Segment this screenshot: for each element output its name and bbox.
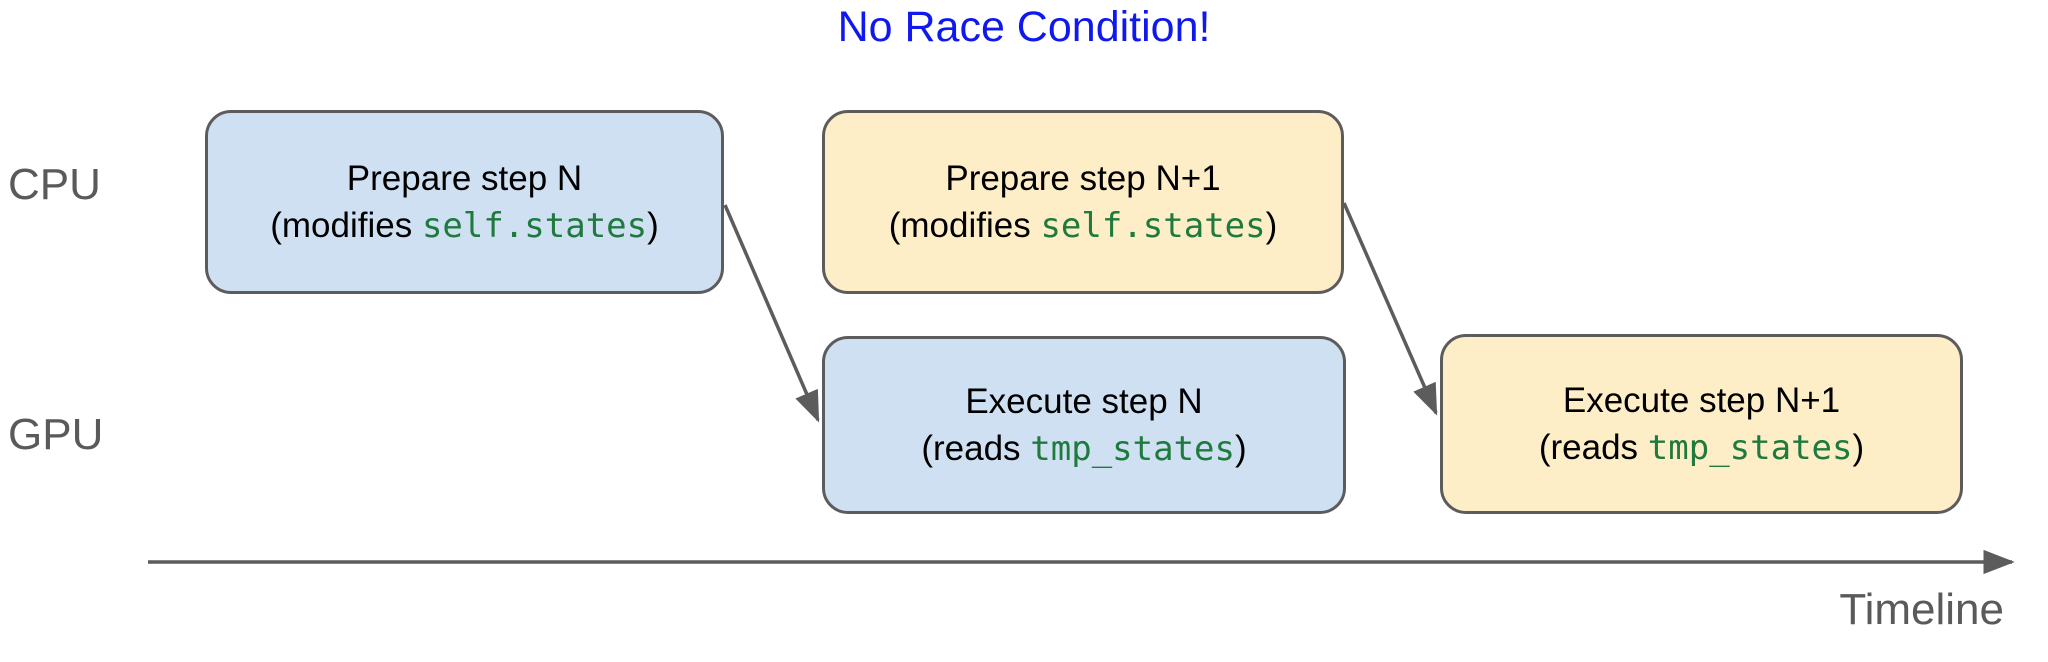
connector-layer (0, 0, 2048, 662)
node-execute-step-n-plus-1[interactable]: Execute step N+1 (reads tmp_states) (1440, 334, 1963, 514)
diagram-canvas: No Race Condition! CPU GPU Prepare step … (0, 0, 2048, 662)
node-execute-step-n-plus-1-line2: (reads tmp_states) (1539, 424, 1864, 472)
lane-label-cpu: CPU (8, 160, 101, 210)
node-prepare-step-n-code: self.states (422, 206, 647, 246)
node-execute-step-n-code: tmp_states (1030, 429, 1235, 469)
connector-prepare-n-to-execute-n (725, 205, 818, 420)
node-prepare-step-n-line2-suffix: ) (647, 206, 659, 245)
node-execute-step-n-line2-suffix: ) (1235, 429, 1247, 468)
page-title: No Race Condition! (0, 2, 2048, 52)
node-execute-step-n-plus-1-line2-prefix: (reads (1539, 428, 1648, 467)
lane-label-gpu: GPU (8, 410, 103, 460)
node-execute-step-n-line2-prefix: (reads (921, 429, 1030, 468)
timeline-axis-label: Timeline (1839, 584, 2004, 636)
node-prepare-step-n-plus-1-line2-suffix: ) (1266, 206, 1278, 245)
node-execute-step-n[interactable]: Execute step N (reads tmp_states) (822, 336, 1346, 514)
node-execute-step-n-plus-1-code: tmp_states (1648, 428, 1853, 468)
node-execute-step-n-line1: Execute step N (965, 378, 1202, 425)
node-prepare-step-n-plus-1-line2-prefix: (modifies (889, 206, 1041, 245)
node-prepare-step-n-plus-1-line1: Prepare step N+1 (945, 155, 1220, 202)
node-execute-step-n-plus-1-line2-suffix: ) (1852, 428, 1864, 467)
node-prepare-step-n-plus-1-line2: (modifies self.states) (889, 202, 1278, 250)
node-prepare-step-n[interactable]: Prepare step N (modifies self.states) (205, 110, 724, 294)
node-execute-step-n-line2: (reads tmp_states) (921, 425, 1246, 473)
node-prepare-step-n-line2: (modifies self.states) (270, 202, 659, 250)
node-prepare-step-n-plus-1-code: self.states (1040, 206, 1265, 246)
node-execute-step-n-plus-1-line1: Execute step N+1 (1563, 377, 1840, 424)
node-prepare-step-n-line1: Prepare step N (347, 155, 582, 202)
node-prepare-step-n-plus-1[interactable]: Prepare step N+1 (modifies self.states) (822, 110, 1344, 294)
connector-prepare-n1-to-execute-n1 (1344, 203, 1436, 413)
node-prepare-step-n-line2-prefix: (modifies (270, 206, 422, 245)
